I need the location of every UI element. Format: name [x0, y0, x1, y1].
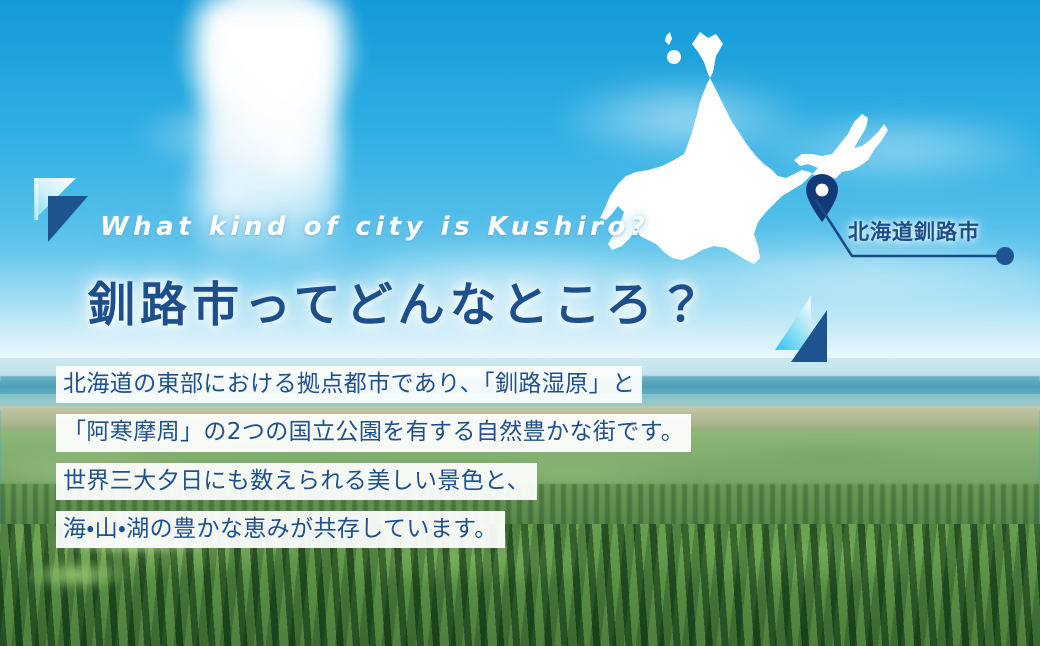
body-copy: 北海道の東部における拠点都市であり、「釧路湿原」と 「阿寒摩周」の2つの国立公園…: [56, 366, 691, 548]
map-location-label: 北海道釧路市: [848, 216, 980, 246]
eyebrow-heading: What kind of city is Kushiro?: [100, 212, 649, 242]
hero-banner: 北海道釧路市: [0, 0, 1040, 646]
chevron-mark-right: [773, 294, 835, 366]
body-line: 「阿寒摩周」の2つの国立公園を有する自然豊かな街です。: [56, 414, 691, 451]
body-line: 海・山・湖の豊かな恵みが共存しています。: [56, 511, 505, 548]
body-line: 世界三大夕日にも数えられる美しい景色と、: [56, 463, 537, 500]
body-line: 北海道の東部における拠点都市であり、「釧路湿原」と: [56, 366, 642, 403]
leader-dot-icon: [996, 247, 1014, 265]
chevron-mark-left: [30, 176, 96, 254]
photo-grass-clearing: [1, 554, 151, 596]
cloud-shape: [60, 70, 360, 200]
page-title: 釧路市ってどんなところ？: [88, 266, 710, 335]
